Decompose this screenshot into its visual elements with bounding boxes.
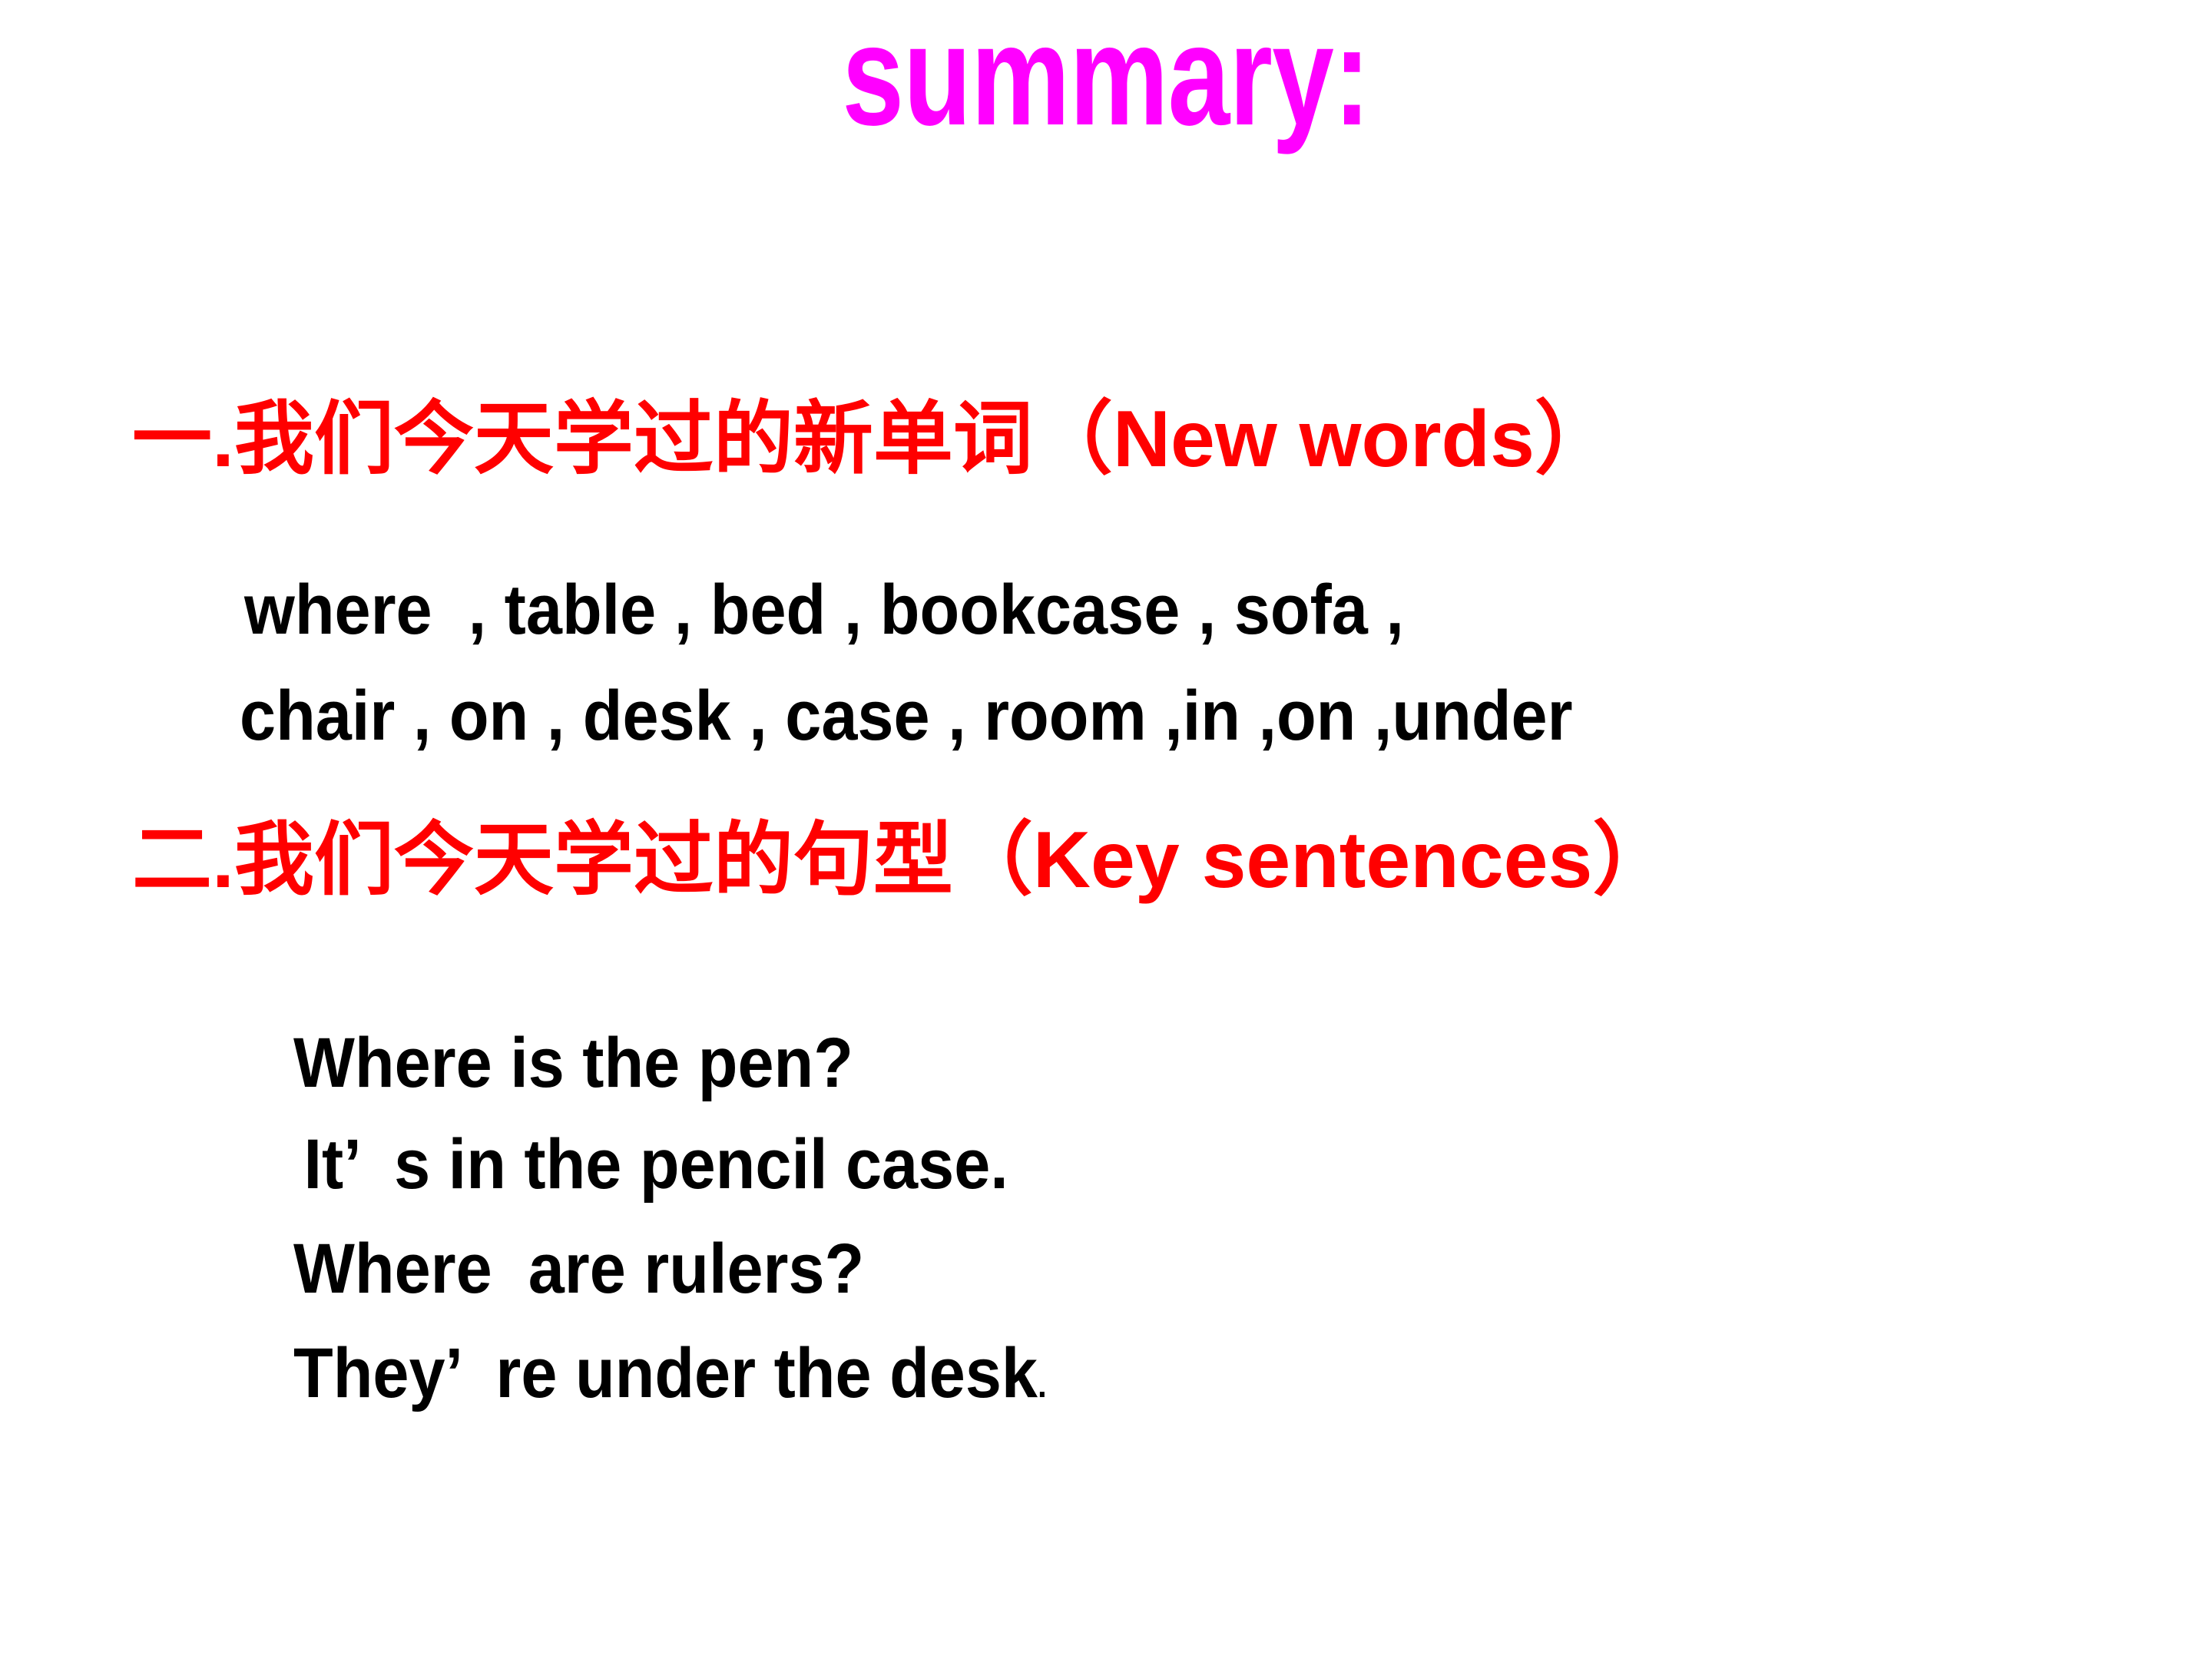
key-sentence-4: They’ re under the desk. (293, 1338, 1047, 1409)
section-heading-new-words-chinese: 一.我们今天学过的新单词（ (132, 395, 1113, 484)
section-heading-key-sentences-english: Key sentences (1033, 816, 1592, 905)
section-heading-new-words: 一.我们今天学过的新单词（New words） (132, 399, 1614, 479)
page-title: summary: (243, 5, 1969, 147)
section-heading-key-sentences: 二.我们今天学过的句型（Key sentences） (132, 820, 1672, 900)
key-sentence-4-text: They’ re under the (293, 1334, 889, 1412)
key-sentence-2: It’ s in the pencil case. (286, 1129, 1008, 1200)
new-words-line-2: chair , on , desk , case , room ,in ,on … (240, 680, 1573, 751)
key-sentence-4-final-period: . (1038, 1367, 1047, 1402)
key-sentence-3: Where are rulers? (293, 1233, 864, 1304)
slide-canvas: summary: 一.我们今天学过的新单词（New words） where ,… (0, 0, 2212, 1659)
section-heading-new-words-english: New words (1113, 395, 1535, 484)
section-heading-key-sentences-chinese: 二.我们今天学过的句型（ (132, 816, 1033, 905)
key-sentence-4-final-word: desk (889, 1338, 1038, 1409)
new-words-line-1: where , table , bed , bookcase , sofa , (244, 575, 1422, 645)
section-heading-new-words-paren-close: ） (1535, 395, 1614, 484)
section-heading-key-sentences-paren-close: ） (1592, 816, 1672, 905)
key-sentence-1: Where is the pen? (293, 1028, 853, 1098)
